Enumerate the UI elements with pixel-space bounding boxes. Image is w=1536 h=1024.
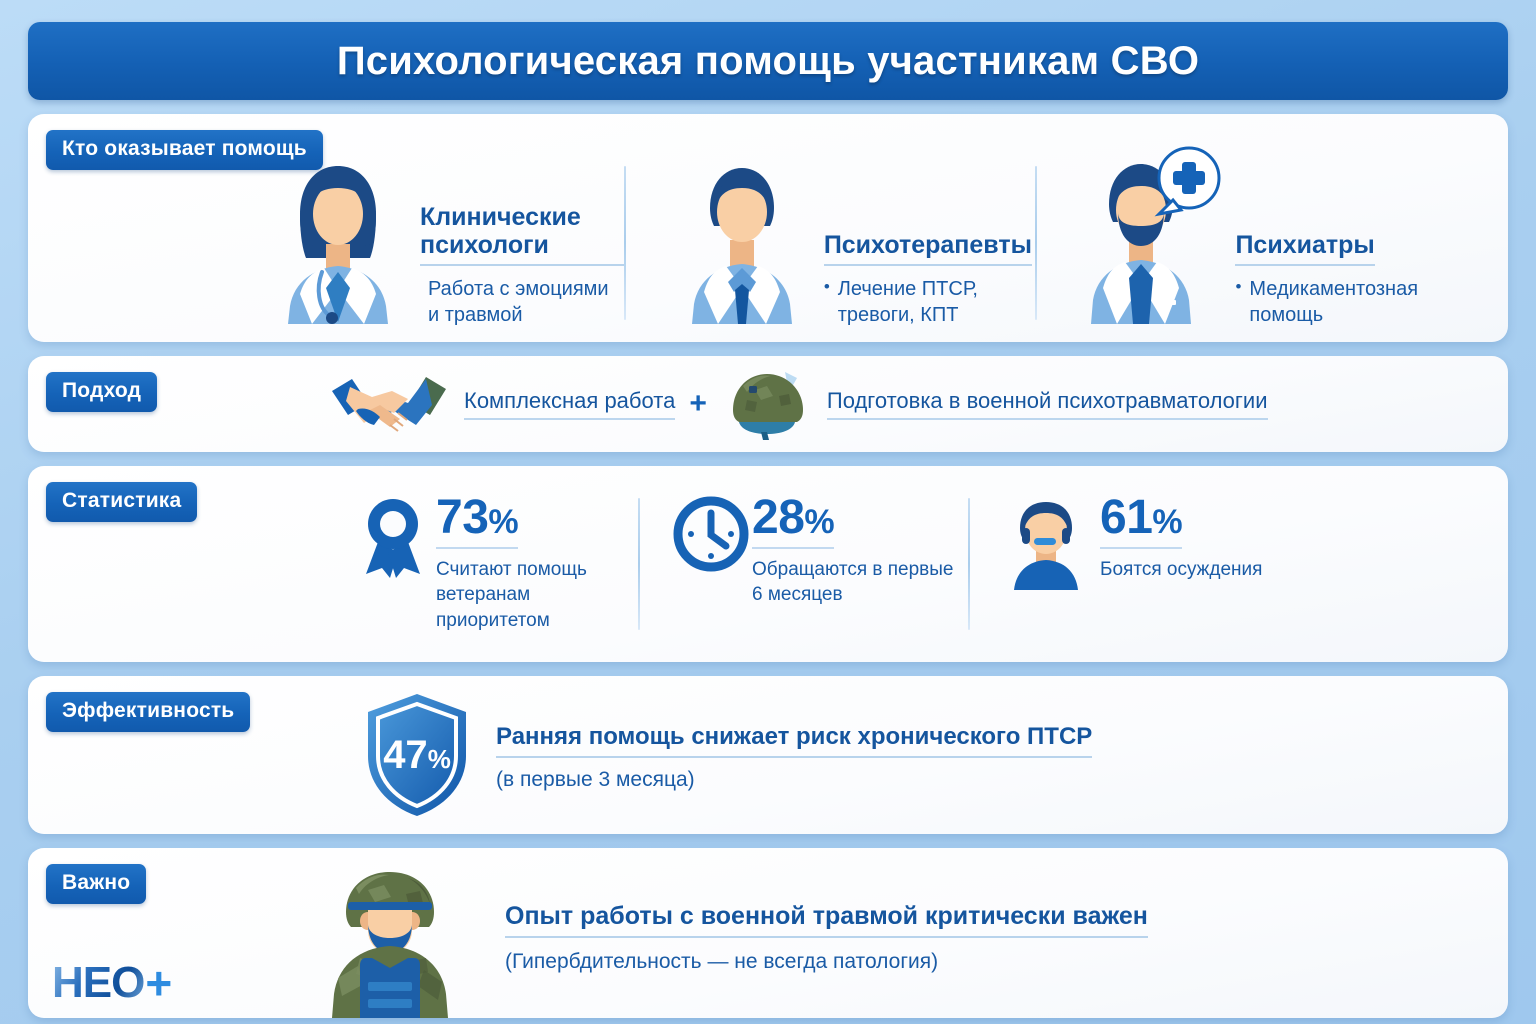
section-important: Важно [28, 848, 1508, 1018]
stat-item: 73% Считают помощь ветеранам приоритетом [328, 480, 638, 652]
badge-effectiveness: Эффективность [46, 692, 250, 732]
providers-row: Клинические психологи Работа с эмоциями … [224, 148, 1496, 342]
column-divider [638, 498, 640, 630]
column-divider [968, 498, 970, 630]
stat-value: 61% [1100, 494, 1182, 549]
shield-icon: 47% [358, 690, 476, 820]
provider-bullet-text: Работа с эмоциями и травмой [428, 276, 624, 328]
section-effectiveness: Эффективность 47% Ранняя помощь снижа [28, 676, 1508, 834]
stat-value: 73% [436, 494, 518, 549]
page-title: Психологическая помощь участникам СВО [337, 39, 1199, 84]
provider-bullet-text: Лечение ПТСР, тревоги, КПТ [838, 276, 1036, 328]
male-psychotherapist-avatar [662, 148, 822, 342]
provider-psychiatrists: Психиатры • Медикаментозная помощь [1035, 148, 1496, 342]
military-helmet-icon [721, 368, 813, 440]
stat-caption: Боятся осуждения [1100, 557, 1262, 582]
provider-bullet: • Медикаментозная помощь [1235, 276, 1496, 328]
stat-caption: Обращаются в первые 6 месяцев [752, 557, 967, 608]
column-divider [1035, 166, 1037, 320]
effectiveness-text: Ранняя помощь снижает риск хронического … [496, 719, 1092, 792]
soldier-figure-icon [298, 866, 483, 1018]
clock-icon [672, 494, 746, 574]
column-divider [624, 166, 626, 320]
bearded-psychiatrist-avatar [1073, 148, 1233, 342]
approach-right-label: Подготовка в военной психотравматологии [827, 388, 1268, 420]
badge-approach: Подход [46, 372, 157, 412]
provider-bullet: Работа с эмоциями и травмой [420, 276, 624, 328]
provider-text-1: Клинические психологи Работа с эмоциями … [420, 203, 624, 342]
stat-body: 73% Считают помощь ветеранам приоритетом [436, 494, 638, 633]
important-text: Опыт работы с военной травмой критически… [505, 902, 1148, 1018]
provider-bullet-text: Медикаментозная помощь [1249, 276, 1496, 328]
brand-logo: НЕО + [52, 960, 171, 1006]
effectiveness-main: Ранняя помощь снижает риск хронического … [496, 723, 1092, 758]
plus-icon: + [689, 387, 707, 421]
shield-unit: % [428, 744, 451, 774]
statistics-row: 73% Считают помощь ветеранам приоритетом [328, 480, 1494, 652]
shield-value: 47 [383, 733, 428, 777]
provider-bullet: • Лечение ПТСР, тревоги, КПТ [824, 276, 1036, 328]
provider-text-2: Психотерапевты • Лечение ПТСР, тревоги, … [824, 231, 1036, 342]
badge-important: Важно [46, 864, 146, 904]
stat-item: 61% Боятся осуждения [968, 480, 1368, 652]
person-headset-icon [998, 494, 1094, 574]
provider-title: Психотерапевты [824, 231, 1032, 266]
important-row: Опыт работы с военной травмой критически… [298, 848, 1488, 1018]
infographic-page: Психологическая помощь участникам СВО Кт… [0, 0, 1536, 1024]
provider-text-3: Психиатры • Медикаментозная помощь [1235, 231, 1496, 342]
effectiveness-row: 47% Ранняя помощь снижает риск хроническ… [358, 676, 1488, 834]
bullet-marker: • [824, 276, 830, 328]
provider-title: Клинические психологи [420, 203, 624, 266]
provider-title: Психиатры [1235, 231, 1374, 266]
badge-statistics: Статистика [46, 482, 197, 522]
stat-body: 28% Обращаются в первые 6 месяцев [752, 494, 967, 608]
medical-cross-bubble [1159, 148, 1219, 214]
important-main: Опыт работы с военной травмой критически… [505, 902, 1148, 938]
stat-caption: Считают помощь ветеранам приоритетом [436, 557, 638, 633]
handshake-icon [328, 369, 450, 439]
provider-clinical-psychologists: Клинические психологи Работа с эмоциями … [224, 148, 624, 342]
effectiveness-sub: (в первые 3 месяца) [496, 768, 1092, 792]
stat-body: 61% Боятся осуждения [1100, 494, 1262, 582]
provider-psychotherapists: Психотерапевты • Лечение ПТСР, тревоги, … [624, 148, 1036, 342]
page-title-bar: Психологическая помощь участникам СВО [28, 22, 1508, 100]
brand-logo-plus: + [145, 960, 171, 1006]
award-ribbon-icon [356, 494, 430, 574]
stat-value: 28% [752, 494, 834, 549]
section-providers: Кто оказывает помощь [28, 114, 1508, 342]
important-sub: (Гипербдительность — не всегда патология… [505, 950, 1148, 974]
section-statistics: Статистика 73% Считают помощь ветеранам … [28, 466, 1508, 662]
brand-logo-text: НЕО [52, 961, 144, 1005]
female-psychologist-avatar [258, 148, 418, 342]
stat-item: 28% Обращаются в первые 6 месяцев [638, 480, 968, 652]
approach-row: Комплексная работа + Подготовка в военно… [328, 356, 1498, 452]
section-approach: Подход Комплексная работа + [28, 356, 1508, 452]
approach-left-label: Комплексная работа [464, 388, 675, 420]
